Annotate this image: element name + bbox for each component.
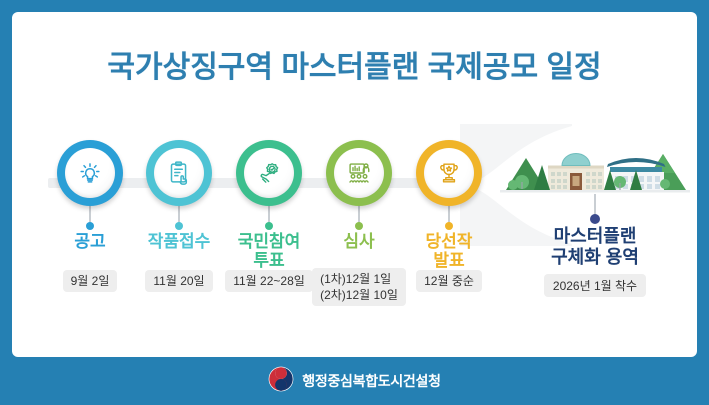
korea-government-taegeuk-logo: [268, 366, 294, 397]
step-4-dot: [355, 222, 363, 230]
clipboard-hand-icon: [154, 148, 204, 198]
final-stage-date: 2026년 1월 착수: [500, 274, 690, 297]
step-5-label: 당선작 발표: [394, 232, 504, 270]
step-4-icon-circle: [326, 140, 392, 206]
page-title-wrap: 국가상징구역 마스터플랜 국제공모 일정: [12, 42, 697, 86]
lightbulb-icon: [65, 148, 115, 198]
timeline-step-3[interactable]: 국민참여 투표 11월 22~28일: [226, 140, 312, 206]
timeline-step-4[interactable]: 심사 (1차)12월 1일 (2차)12월 10일: [316, 140, 402, 206]
step-5-date-text: 12월 중순: [416, 270, 482, 292]
step-2-dot: [175, 222, 183, 230]
timeline-step-2[interactable]: 작품접수 11월 20일: [136, 140, 222, 206]
final-stage-stem: [594, 194, 596, 216]
final-stage-dot: [590, 214, 600, 224]
timeline-step-5[interactable]: 당선작 발표 12월 중순: [406, 140, 492, 206]
footer-org-name: 행정중심복합도시건설청: [302, 371, 440, 391]
step-3-dot: [265, 222, 273, 230]
step-2-date-text: 11월 20일: [145, 270, 212, 292]
step-2-icon-circle: [146, 140, 212, 206]
final-stage-label: 마스터플랜 구체화 용역: [500, 226, 690, 267]
step-5-icon-circle: [416, 140, 482, 206]
step-1-date-text: 9월 2일: [63, 270, 118, 292]
footer: 행정중심복합도시건설청: [0, 357, 709, 405]
step-3-icon-circle: [236, 140, 302, 206]
final-stage[interactable]: 마스터플랜 구체화 용역 2026년 1월 착수: [500, 132, 690, 198]
final-stage-date-text: 2026년 1월 착수: [544, 274, 646, 297]
step-1-dot: [86, 222, 94, 230]
content-card: 국가상징구역 마스터플랜 국제공모 일정: [12, 12, 697, 357]
step-1-icon-circle: [57, 140, 123, 206]
hand-badge-icon: [244, 148, 294, 198]
infographic-root: 국가상징구역 마스터플랜 국제공모 일정: [0, 0, 709, 405]
step-5-date: 12월 중순: [388, 270, 510, 292]
timeline-step-1[interactable]: 공고 9월 2일: [47, 140, 133, 206]
trophy-icon: [424, 148, 474, 198]
presentation-audience-icon: [334, 148, 384, 198]
page-title: 국가상징구역 마스터플랜 국제공모 일정: [107, 42, 601, 86]
government-buildings-illustration: [500, 132, 690, 198]
step-5-dot: [445, 222, 453, 230]
